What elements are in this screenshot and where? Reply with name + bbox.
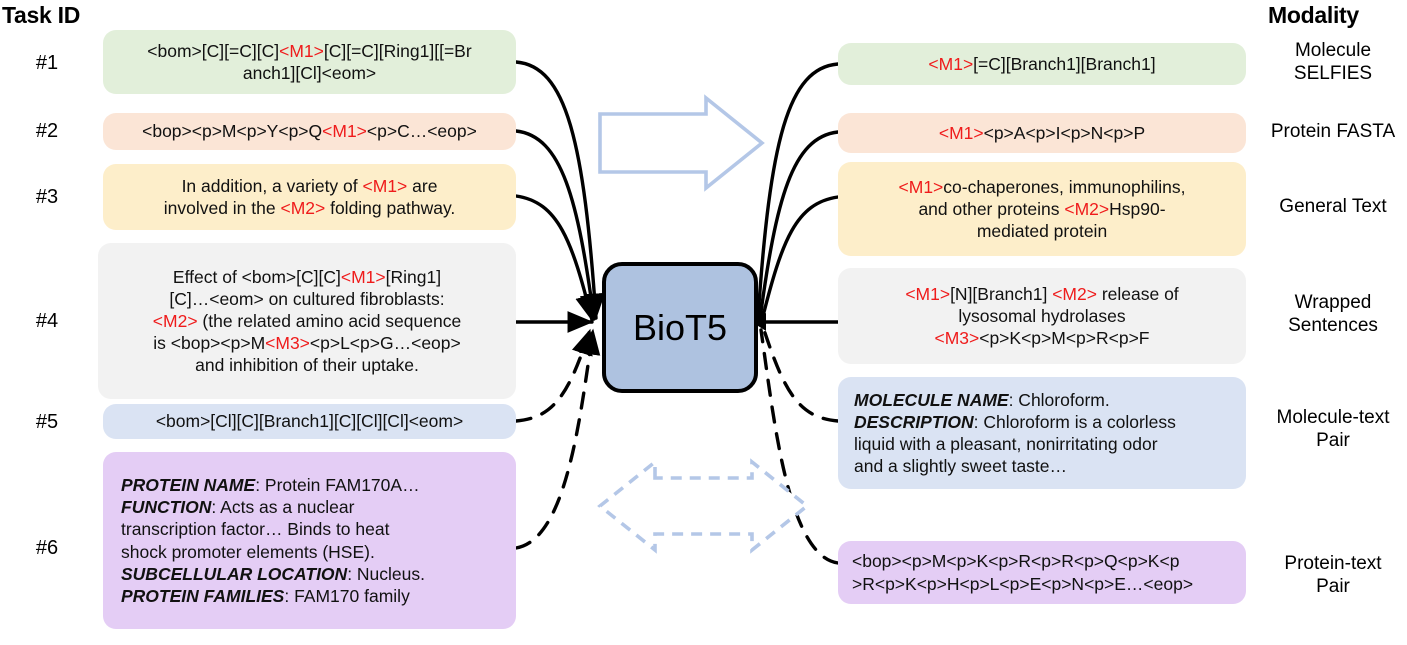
output-box-task-3[interactable]: <M1>co-chaperones, immunophilins,and oth… bbox=[838, 162, 1246, 256]
box-text-line: <M2> (the related amino acid sequence bbox=[108, 310, 506, 332]
box-text-line: <M1>co-chaperones, immunophilins, bbox=[848, 176, 1236, 198]
modality-text-line: Pair bbox=[1258, 576, 1407, 599]
input-box-task-4[interactable]: Effect of <bom>[C][C]<M1>[Ring1][C]…<eom… bbox=[98, 243, 516, 399]
box-text-line: [C]…<eom> on cultured fibroblasts: bbox=[108, 288, 506, 310]
text-fragment: [N][Branch1] bbox=[950, 284, 1052, 304]
modality-text-line: Wrapped bbox=[1258, 292, 1407, 315]
text-fragment: >R<p>K<p>H<p>L<p>E<p>N<p>E…<eop> bbox=[852, 574, 1193, 594]
output-box-task-1[interactable]: <M1>[=C][Branch1][Branch1] bbox=[838, 43, 1246, 85]
input-box-task-5[interactable]: <bom>[Cl][C][Branch1][C][Cl][Cl]<eom> bbox=[103, 404, 516, 439]
mask-token: <M1> bbox=[928, 54, 973, 74]
task-id-column-header: Task ID bbox=[2, 2, 80, 29]
text-fragment: <bom>[Cl][C][Branch1][C][Cl][Cl]<eom> bbox=[156, 411, 463, 431]
mask-token: <M2> bbox=[153, 311, 198, 331]
text-fragment: <p>C…<eop> bbox=[367, 121, 477, 141]
mask-token: <M1> bbox=[899, 177, 944, 197]
text-fragment: In addition, a variety of bbox=[182, 176, 363, 196]
text-fragment: mediated protein bbox=[977, 221, 1107, 241]
mask-token: <M1> bbox=[939, 123, 984, 143]
mask-token: <M1> bbox=[341, 267, 386, 287]
mask-token: <M3> bbox=[934, 328, 979, 348]
text-fragment: folding pathway. bbox=[325, 198, 455, 218]
box-text-line: In addition, a variety of <M1> are bbox=[113, 175, 506, 197]
text-fragment: : Nucleus. bbox=[347, 564, 425, 584]
modality-text-line: Molecule bbox=[1258, 40, 1407, 63]
modality-column-header: Modality bbox=[1268, 2, 1359, 29]
text-fragment: and other proteins bbox=[918, 199, 1064, 219]
text-fragment: <bom>[C][=C][C] bbox=[147, 41, 279, 61]
box-text-line: lysosomal hydrolases bbox=[848, 305, 1236, 327]
text-fragment: <bop><p>M<p>K<p>R<p>R<p>Q<p>K<p bbox=[852, 551, 1179, 571]
text-fragment: shock promoter elements (HSE). bbox=[121, 542, 375, 562]
box-text-line: is <bop><p>M<M3><p>L<p>G…<eop> bbox=[108, 332, 506, 354]
box-text-line: liquid with a pleasant, nonirritating od… bbox=[854, 433, 1236, 455]
box-text-line: <M1><p>A<p>I<p>N<p>P bbox=[848, 122, 1236, 144]
box-text-line: DESCRIPTION: Chloroform is a colorless bbox=[854, 411, 1236, 433]
text-fragment: <p>A<p>I<p>N<p>P bbox=[984, 123, 1146, 143]
mask-token: <M3> bbox=[265, 333, 310, 353]
box-text-line: <M1>[N][Branch1] <M2> release of bbox=[848, 283, 1236, 305]
text-fragment: and inhibition of their uptake. bbox=[195, 355, 419, 375]
text-fragment: [=C][Branch1][Branch1] bbox=[973, 54, 1155, 74]
text-fragment: involved in the bbox=[164, 198, 281, 218]
text-fragment: : Protein FAM170A… bbox=[255, 475, 419, 495]
text-fragment: <p>L<p>G…<eop> bbox=[310, 333, 461, 353]
modality-label-4: WrappedSentences bbox=[1258, 292, 1407, 338]
mask-token: <M2> bbox=[280, 198, 325, 218]
box-text-line: anch1][Cl]<eom> bbox=[113, 62, 506, 84]
output-box-task-2[interactable]: <M1><p>A<p>I<p>N<p>P bbox=[838, 113, 1246, 153]
input-box-task-1[interactable]: <bom>[C][=C][C]<M1>[C][=C][Ring1][[=Bran… bbox=[103, 30, 516, 94]
task-id-label-2: #2 bbox=[2, 120, 92, 143]
field-keyword: SUBCELLULAR LOCATION bbox=[121, 564, 347, 584]
modality-text-line: Molecule-text bbox=[1258, 407, 1407, 430]
box-text-line: >R<p>K<p>H<p>L<p>E<p>N<p>E…<eop> bbox=[852, 573, 1236, 595]
task-id-label-6: #6 bbox=[2, 537, 92, 560]
text-fragment: anch1][Cl]<eom> bbox=[243, 63, 376, 83]
task-id-label-3: #3 bbox=[2, 186, 92, 209]
input-box-task-2[interactable]: <bop><p>M<p>Y<p>Q<M1><p>C…<eop> bbox=[103, 113, 516, 150]
mask-token: <M1> bbox=[905, 284, 950, 304]
field-keyword: FUNCTION bbox=[121, 497, 211, 517]
output-box-task-6[interactable]: <bop><p>M<p>K<p>R<p>R<p>Q<p>K<p>R<p>K<p>… bbox=[838, 541, 1246, 604]
output-connectors-real bbox=[752, 64, 838, 563]
box-text-line: <bop><p>M<p>K<p>R<p>R<p>Q<p>K<p bbox=[852, 550, 1236, 572]
task-id-label-4: #4 bbox=[2, 310, 92, 333]
text-fragment: [Ring1] bbox=[386, 267, 441, 287]
text-fragment: and a slightly sweet taste… bbox=[854, 456, 1067, 476]
input-box-task-6[interactable]: PROTEIN NAME: Protein FAM170A…FUNCTION: … bbox=[103, 452, 516, 629]
output-box-task-5[interactable]: MOLECULE NAME: Chloroform.DESCRIPTION: C… bbox=[838, 377, 1246, 489]
model-label: BioT5 bbox=[633, 307, 727, 349]
box-text-line: mediated protein bbox=[848, 220, 1236, 242]
mask-token: <M2> bbox=[1064, 199, 1109, 219]
modality-label-1: MoleculeSELFIES bbox=[1258, 40, 1407, 86]
box-text-line: PROTEIN FAMILIES: FAM170 family bbox=[121, 585, 506, 607]
modality-text-line: General Text bbox=[1258, 196, 1407, 219]
modality-label-2: Protein FASTA bbox=[1258, 121, 1407, 144]
text-fragment: <bop><p>M<p>Y<p>Q bbox=[142, 121, 322, 141]
model-node-biot5[interactable]: BioT5 bbox=[602, 262, 758, 393]
box-text-line: and a slightly sweet taste… bbox=[854, 455, 1236, 477]
text-fragment: Effect of <bom>[C][C] bbox=[173, 267, 341, 287]
box-text-line: PROTEIN NAME: Protein FAM170A… bbox=[121, 474, 506, 496]
text-fragment: transcription factor… Binds to heat bbox=[121, 519, 389, 539]
output-box-task-4[interactable]: <M1>[N][Branch1] <M2> release oflysosoma… bbox=[838, 268, 1246, 364]
box-text-line: <bop><p>M<p>Y<p>Q<M1><p>C…<eop> bbox=[113, 120, 506, 142]
box-text-line: and inhibition of their uptake. bbox=[108, 354, 506, 376]
diagram-canvas: Task ID Modality #1 #2 #3 #4 #5 #6 <bom>… bbox=[0, 0, 1407, 645]
text-fragment: (the related amino acid sequence bbox=[198, 311, 462, 331]
box-text-line: Effect of <bom>[C][C]<M1>[Ring1] bbox=[108, 266, 506, 288]
modality-text-line: Protein-text bbox=[1258, 553, 1407, 576]
text-fragment: : FAM170 family bbox=[284, 586, 409, 606]
text-fragment: : Chloroform. bbox=[1009, 390, 1110, 410]
field-keyword: MOLECULE NAME bbox=[854, 390, 1009, 410]
input-connectors bbox=[516, 62, 596, 548]
text-fragment: release of bbox=[1097, 284, 1179, 304]
text-fragment: Hsp90- bbox=[1109, 199, 1165, 219]
text-fragment: : Chloroform is a colorless bbox=[974, 412, 1176, 432]
modality-label-6: Protein-textPair bbox=[1258, 553, 1407, 599]
forward-block-arrow-icon bbox=[600, 98, 762, 188]
box-text-line: involved in the <M2> folding pathway. bbox=[113, 197, 506, 219]
text-fragment: are bbox=[407, 176, 437, 196]
text-fragment: co-chaperones, immunophilins, bbox=[943, 177, 1185, 197]
bidirectional-block-arrow-icon bbox=[600, 462, 807, 550]
mask-token: <M1> bbox=[363, 176, 408, 196]
modality-text-line: Pair bbox=[1258, 430, 1407, 453]
modality-label-3: General Text bbox=[1258, 196, 1407, 219]
box-text-line: <bom>[C][=C][C]<M1>[C][=C][Ring1][[=Br bbox=[113, 40, 506, 62]
text-fragment: lysosomal hydrolases bbox=[958, 306, 1125, 326]
text-fragment: : Acts as a nuclear bbox=[211, 497, 354, 517]
box-text-line: FUNCTION: Acts as a nuclear bbox=[121, 496, 506, 518]
box-text-line: SUBCELLULAR LOCATION: Nucleus. bbox=[121, 563, 506, 585]
field-keyword: DESCRIPTION bbox=[854, 412, 974, 432]
box-text-line: <M1>[=C][Branch1][Branch1] bbox=[848, 53, 1236, 75]
modality-text-line: SELFIES bbox=[1258, 63, 1407, 86]
box-text-line: <M3><p>K<p>M<p>R<p>F bbox=[848, 327, 1236, 349]
box-text-line: transcription factor… Binds to heat bbox=[121, 518, 506, 540]
text-fragment: [C][=C][Ring1][[=Br bbox=[324, 41, 472, 61]
task-id-label-1: #1 bbox=[2, 52, 92, 75]
text-fragment: [C]…<eom> on cultured fibroblasts: bbox=[169, 289, 444, 309]
field-keyword: PROTEIN NAME bbox=[121, 475, 255, 495]
mask-token: <M2> bbox=[1052, 284, 1097, 304]
modality-text-line: Protein FASTA bbox=[1258, 121, 1407, 144]
box-text-line: MOLECULE NAME: Chloroform. bbox=[854, 389, 1236, 411]
mask-token: <M1> bbox=[322, 121, 367, 141]
input-box-task-3[interactable]: In addition, a variety of <M1> areinvolv… bbox=[103, 164, 516, 230]
text-fragment: <p>K<p>M<p>R<p>F bbox=[979, 328, 1149, 348]
box-text-line: <bom>[Cl][C][Branch1][C][Cl][Cl]<eom> bbox=[113, 410, 506, 432]
modality-text-line: Sentences bbox=[1258, 315, 1407, 338]
box-text-line: and other proteins <M2>Hsp90- bbox=[848, 198, 1236, 220]
task-id-label-5: #5 bbox=[2, 411, 92, 434]
text-fragment: liquid with a pleasant, nonirritating od… bbox=[854, 434, 1158, 454]
box-text-line: shock promoter elements (HSE). bbox=[121, 541, 506, 563]
field-keyword: PROTEIN FAMILIES bbox=[121, 586, 284, 606]
text-fragment: is <bop><p>M bbox=[153, 333, 265, 353]
modality-label-5: Molecule-textPair bbox=[1258, 407, 1407, 453]
mask-token: <M1> bbox=[279, 41, 324, 61]
